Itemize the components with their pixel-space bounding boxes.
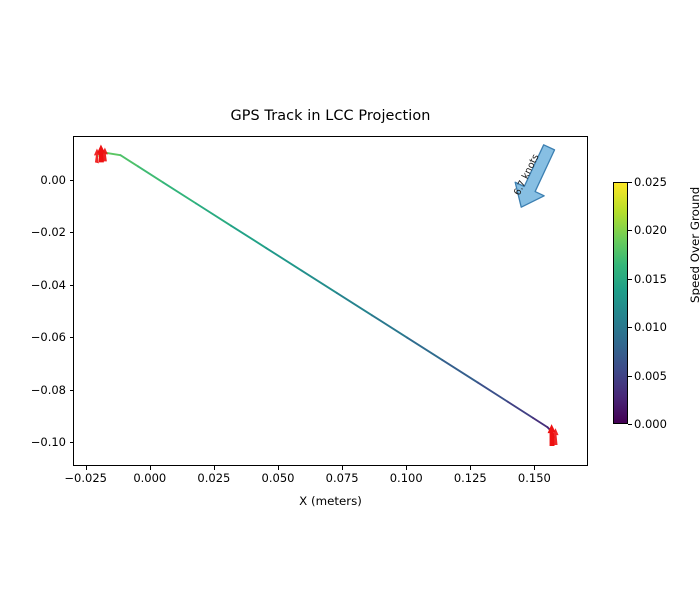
x-axis-label: X (meters) [73,494,588,508]
colorbar-tick-mark [628,424,632,425]
xtick-label: −0.025 [64,471,107,485]
xtick-mark [150,466,151,470]
ytick-mark [70,442,74,443]
ytick-mark [70,232,74,233]
ytick-label: −0.02 [31,225,66,239]
colorbar-tick-label: 0.015 [634,272,667,286]
colorbar-tick-mark [628,230,632,231]
xtick-label: 0.100 [390,471,423,485]
colorbar-label: Speed Over Ground [688,187,700,303]
end-heading-arrows [548,424,559,446]
colorbar-tick-mark [628,182,632,183]
start-heading-arrows [94,144,108,163]
xtick-mark [214,466,215,470]
ytick-label: 0.00 [40,173,66,187]
xtick-label: 0.125 [454,471,487,485]
gps-track-plot [74,137,587,465]
xtick-mark [406,466,407,470]
colorbar-tick-label: 0.010 [634,320,667,334]
colorbar-tick-mark [628,376,632,377]
xtick-mark [342,466,343,470]
xtick-label: 0.075 [326,471,359,485]
xtick-mark [534,466,535,470]
xtick-label: 0.000 [133,471,166,485]
colorbar-gradient [613,182,628,424]
ytick-label: −0.10 [31,435,66,449]
colorbar-tick-mark [628,327,632,328]
xtick-label: 0.150 [518,471,551,485]
colorbar-tick-label: 0.020 [634,223,667,237]
xtick-mark [470,466,471,470]
ytick-label: −0.06 [31,330,66,344]
plot-axes [73,136,588,466]
ytick-mark [70,390,74,391]
ytick-label: −0.08 [31,383,66,397]
xtick-mark [278,466,279,470]
ytick-mark [70,285,74,286]
colorbar [613,182,628,424]
xtick-mark [86,466,87,470]
xtick-label: 0.025 [197,471,230,485]
track-polyline [99,153,553,438]
colorbar-tick-mark [628,279,632,280]
page-title: GPS Track in LCC Projection [73,108,588,124]
matplotlib-figure: GPS Track in LCC Projection [0,0,700,600]
colorbar-tick-label: 0.025 [634,175,667,189]
ytick-mark [70,337,74,338]
xtick-label: 0.050 [262,471,295,485]
colorbar-tick-label: 0.005 [634,369,667,383]
colorbar-tick-label: 0.000 [634,417,667,431]
ytick-label: −0.04 [31,278,66,292]
ytick-mark [70,180,74,181]
